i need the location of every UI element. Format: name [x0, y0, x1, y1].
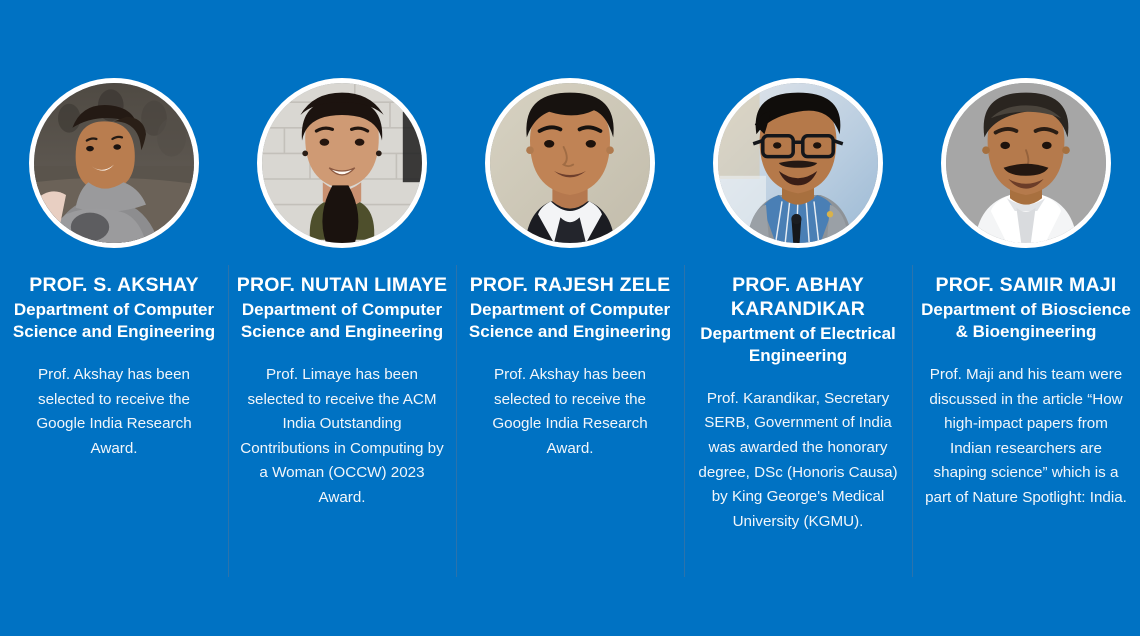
avatar: [941, 78, 1111, 248]
avatar: [485, 78, 655, 248]
portrait-rajesh-zele-photo: [490, 83, 650, 243]
faculty-description: Prof. Akshay has been selected to receiv…: [464, 363, 676, 462]
faculty-description: Prof. Karandikar, Secretary SERB, Govern…: [692, 387, 904, 535]
portrait-abhay-karandikar-photo: [718, 83, 878, 243]
faculty-department: Department of Computer Science and Engin…: [464, 299, 676, 343]
portrait-s-akshay-photo: [34, 83, 194, 243]
faculty-card: PROF. RAJESH ZELE Department of Computer…: [456, 0, 684, 590]
avatar: [713, 78, 883, 248]
avatar: [257, 78, 427, 248]
portrait-nutan-limaye-photo: [262, 83, 422, 243]
portrait-samir-maji-photo: [946, 83, 1106, 243]
faculty-card: PROF. S. AKSHAY Department of Computer S…: [0, 0, 228, 590]
faculty-description: Prof. Maji and his team were discussed i…: [920, 363, 1132, 511]
faculty-department: Department of Computer Science and Engin…: [236, 299, 448, 343]
faculty-name: PROF. SAMIR MAJI: [920, 274, 1132, 298]
faculty-name: PROF. S. AKSHAY: [8, 274, 220, 298]
faculty-department: Department of Electrical Engineering: [692, 323, 904, 367]
faculty-department: Department of Computer Science and Engin…: [8, 299, 220, 343]
faculty-card-grid: PROF. S. AKSHAY Department of Computer S…: [0, 0, 1140, 590]
faculty-card: PROF. SAMIR MAJI Department of Bioscienc…: [912, 0, 1140, 590]
faculty-department: Department of Bioscience & Bioengineerin…: [920, 299, 1132, 343]
faculty-name: PROF. NUTAN LIMAYE: [236, 274, 448, 298]
faculty-card: PROF. ABHAY KARANDIKAR Department of Ele…: [684, 0, 912, 590]
faculty-card: PROF. NUTAN LIMAYE Department of Compute…: [228, 0, 456, 590]
faculty-name: PROF. ABHAY KARANDIKAR: [692, 274, 904, 322]
faculty-description: Prof. Limaye has been selected to receiv…: [236, 363, 448, 511]
avatar: [29, 78, 199, 248]
faculty-achievements-board: PROF. S. AKSHAY Department of Computer S…: [0, 0, 1140, 636]
faculty-name: PROF. RAJESH ZELE: [464, 274, 676, 298]
faculty-description: Prof. Akshay has been selected to receiv…: [8, 363, 220, 462]
